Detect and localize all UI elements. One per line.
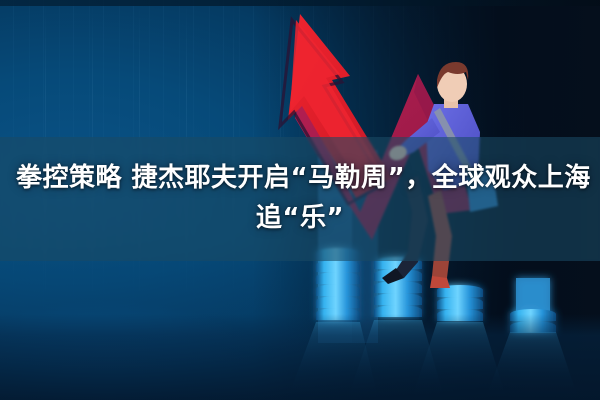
- coin-stack: [374, 257, 422, 317]
- headline-line-1: 拳控策略 捷杰耶夫开启“马勒周”，全球观众上海: [12, 159, 588, 199]
- thumbnail-image: 拳控策略 捷杰耶夫开启“马勒周”，全球观众上海 追“乐”: [0, 0, 600, 400]
- headline-line-2: 追“乐”: [256, 199, 344, 239]
- top-edge-band: [0, 0, 600, 6]
- scene-floor: [0, 314, 600, 400]
- headline: 拳控策略 捷杰耶夫开启“马勒周”，全球观众上海 追“乐”: [0, 137, 600, 261]
